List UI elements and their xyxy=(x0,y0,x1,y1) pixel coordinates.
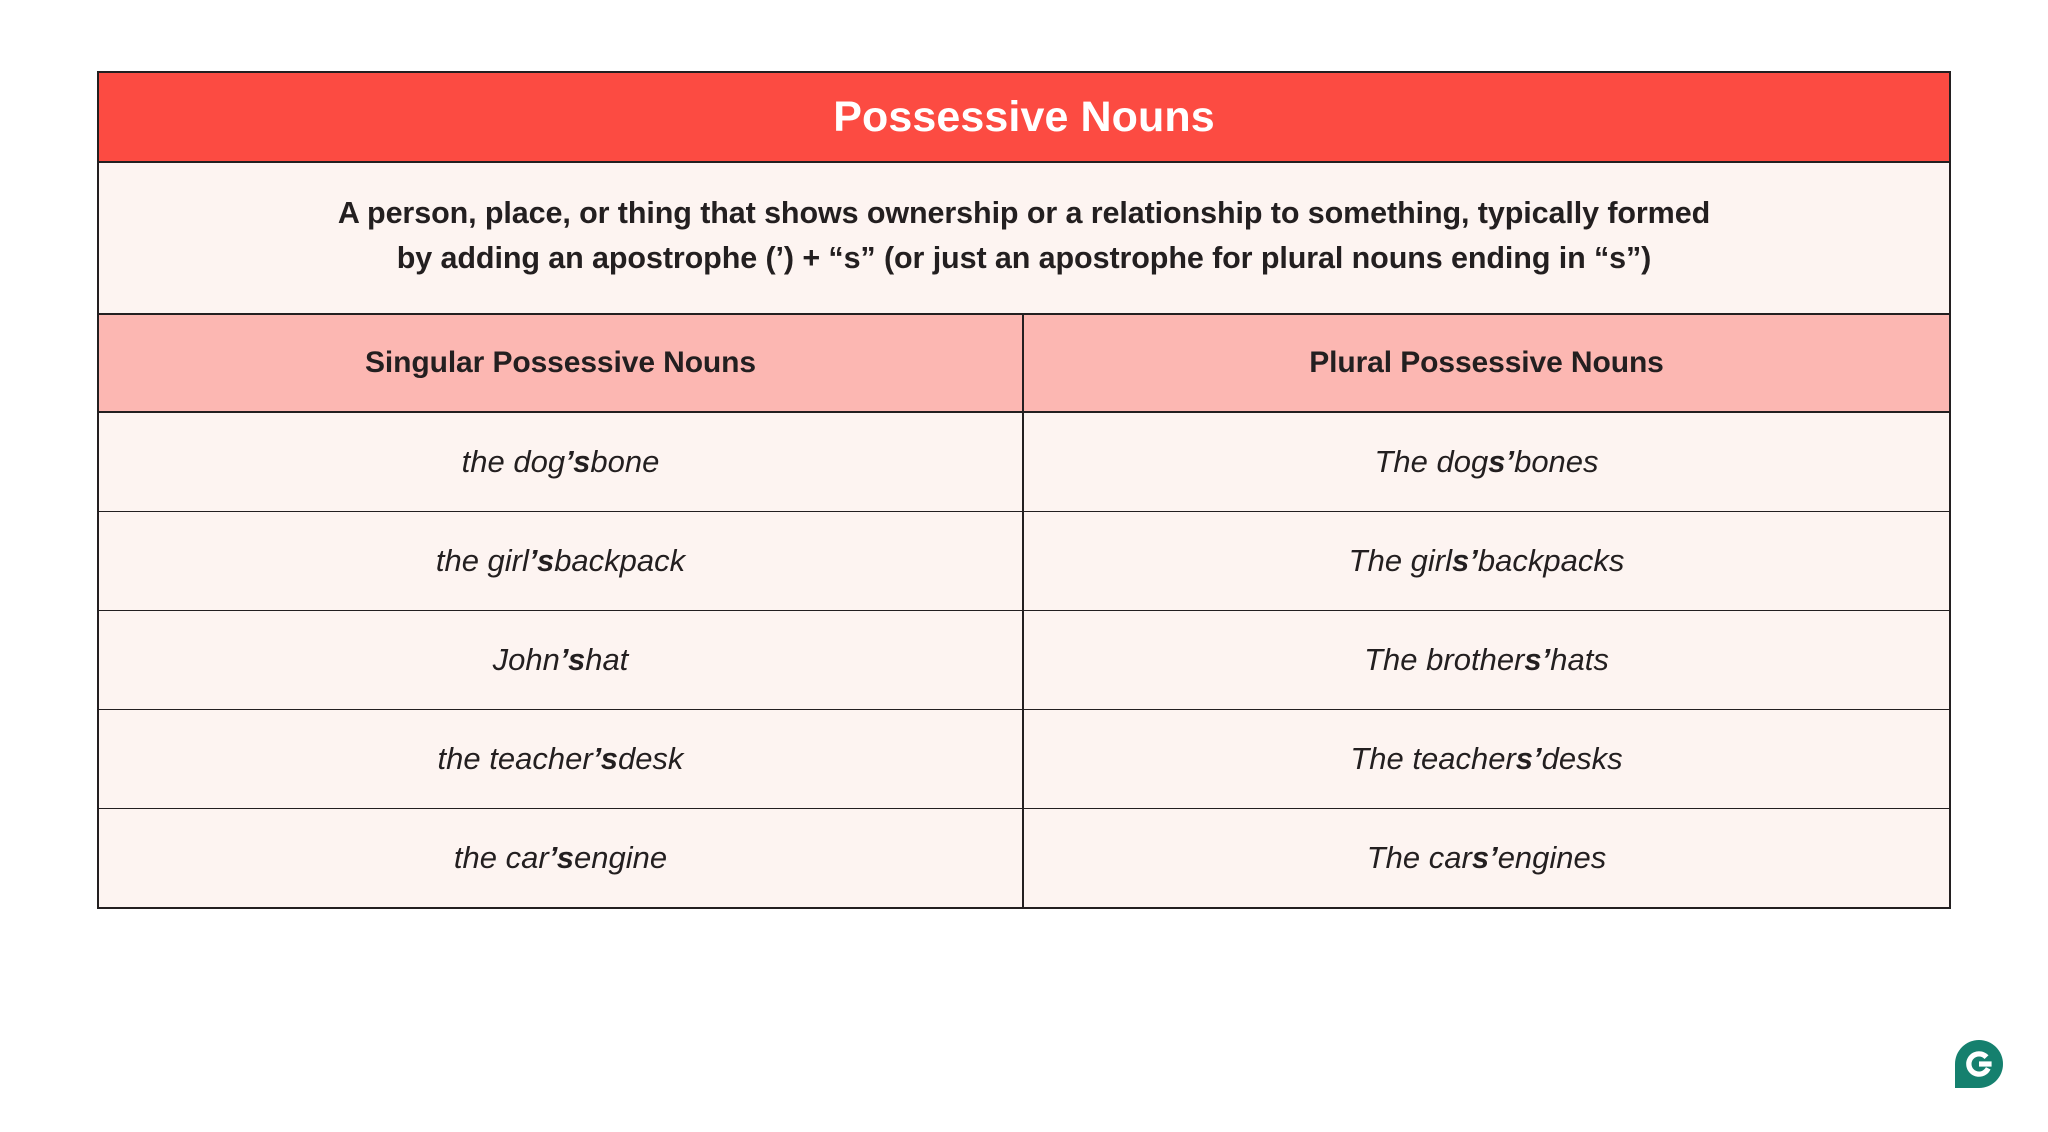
cell-text-after: hats xyxy=(1550,642,1609,678)
table-row: the car’s engineThe cars’ engines xyxy=(99,809,1949,907)
cell-text-emphasis: s’ xyxy=(1452,543,1478,579)
cell-text-before: The girl xyxy=(1349,543,1452,579)
cell-singular-3: John’s hat xyxy=(99,611,1024,709)
table-row: the dog’s boneThe dogs’ bones xyxy=(99,413,1949,512)
grammarly-logo-icon xyxy=(1955,1040,2003,1088)
cell-plural-1: The dogs’ bones xyxy=(1024,413,1949,511)
cell-text-after: engines xyxy=(1498,840,1607,876)
cell-text-before: The teacher xyxy=(1350,741,1515,777)
table-description: A person, place, or thing that shows own… xyxy=(99,163,1949,315)
cell-text-before: The brother xyxy=(1364,642,1524,678)
possessive-nouns-table: Possessive Nouns A person, place, or thi… xyxy=(97,71,1951,909)
cell-singular-4: the teacher’s desk xyxy=(99,710,1024,808)
cell-text-emphasis: ’s xyxy=(560,642,585,678)
cell-singular-2: the girl’s backpack xyxy=(99,512,1024,610)
cell-text-before: The dog xyxy=(1374,444,1488,480)
column-header-singular: Singular Possessive Nouns xyxy=(99,315,1024,411)
cell-singular-1: the dog’s bone xyxy=(99,413,1024,511)
cell-plural-3: The brothers’ hats xyxy=(1024,611,1949,709)
column-header-row: Singular Possessive Nouns Plural Possess… xyxy=(99,315,1949,413)
cell-text-after: backpacks xyxy=(1478,543,1624,579)
cell-text-after: bone xyxy=(590,444,659,480)
cell-text-before: the teacher xyxy=(438,741,593,777)
cell-text-before: John xyxy=(493,642,560,678)
cell-text-before: the girl xyxy=(436,543,529,579)
cell-text-before: The car xyxy=(1367,840,1472,876)
cell-plural-2: The girls’ backpacks xyxy=(1024,512,1949,610)
cell-text-emphasis: ’s xyxy=(565,444,590,480)
cell-plural-5: The cars’ engines xyxy=(1024,809,1949,907)
cell-plural-4: The teachers’ desks xyxy=(1024,710,1949,808)
column-header-plural: Plural Possessive Nouns xyxy=(1024,315,1949,411)
table-body: the dog’s boneThe dogs’ bonesthe girl’s … xyxy=(99,413,1949,907)
table-title-band: Possessive Nouns xyxy=(99,73,1949,163)
page-title: Possessive Nouns xyxy=(833,96,1215,139)
cell-text-before: the dog xyxy=(462,444,565,480)
cell-text-emphasis: s’ xyxy=(1524,642,1550,678)
cell-text-before: the car xyxy=(454,840,549,876)
cell-text-after: backpack xyxy=(554,543,685,579)
cell-text-emphasis: ’s xyxy=(549,840,574,876)
table-row: the girl’s backpackThe girls’ backpacks xyxy=(99,512,1949,611)
cell-singular-5: the car’s engine xyxy=(99,809,1024,907)
table-row: John’s hatThe brothers’ hats xyxy=(99,611,1949,710)
cell-text-after: bones xyxy=(1514,444,1598,480)
description-line-2: by adding an apostrophe (’) + “s” (or ju… xyxy=(159,236,1889,281)
cell-text-emphasis: ’s xyxy=(593,741,618,777)
cell-text-emphasis: ’s xyxy=(529,543,554,579)
cell-text-after: desks xyxy=(1542,741,1623,777)
cell-text-after: engine xyxy=(574,840,667,876)
table-row: the teacher’s deskThe teachers’ desks xyxy=(99,710,1949,809)
cell-text-after: hat xyxy=(585,642,628,678)
cell-text-emphasis: s’ xyxy=(1472,840,1498,876)
cell-text-emphasis: s’ xyxy=(1516,741,1542,777)
cell-text-emphasis: s’ xyxy=(1488,444,1514,480)
cell-text-after: desk xyxy=(618,741,683,777)
description-line-1: A person, place, or thing that shows own… xyxy=(159,191,1889,236)
